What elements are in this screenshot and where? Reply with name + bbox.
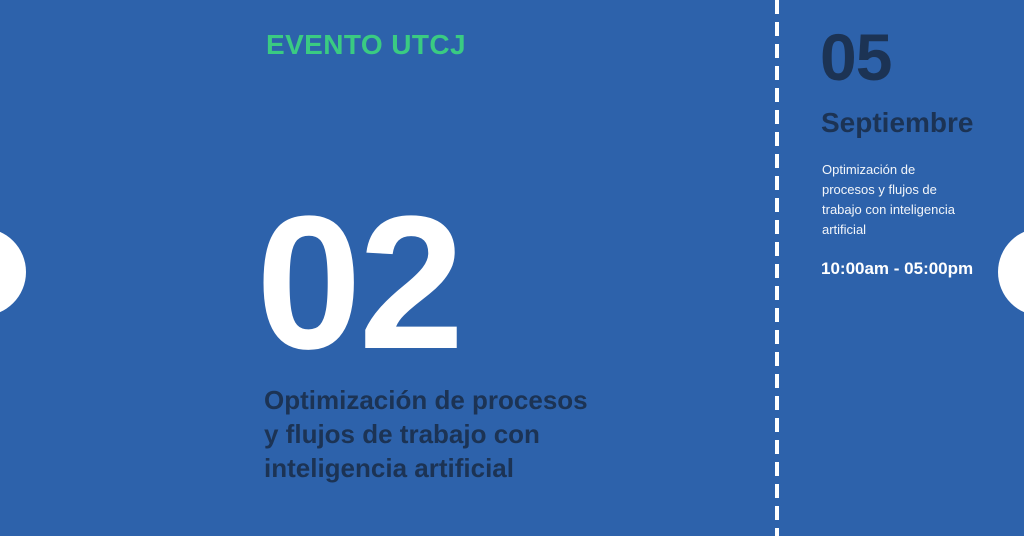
stub-description-line: procesos y flujos de — [822, 180, 974, 200]
stub-time-range: 10:00am - 05:00pm — [821, 259, 973, 279]
stub-description-line: artificial — [822, 220, 974, 240]
event-eyebrow-label: EVENTO UTCJ — [266, 29, 466, 61]
ticket-stub-panel: 05 Septiembre Optimización de procesos y… — [779, 0, 1024, 536]
stub-description-line: Optimización de — [822, 160, 974, 180]
session-title-line: Optimización de procesos — [264, 383, 694, 417]
ticket-main-panel: EVENTO UTCJ 02 Optimización de procesos … — [0, 0, 775, 536]
session-title-line: inteligencia artificial — [264, 451, 694, 485]
session-number: 02 — [256, 196, 461, 371]
stub-day-number: 05 — [820, 22, 891, 92]
session-title: Optimización de procesos y flujos de tra… — [264, 383, 694, 485]
session-title-line: y flujos de trabajo con — [264, 417, 694, 451]
stub-month-label: Septiembre — [821, 107, 974, 139]
stub-description-line: trabajo con inteligencia — [822, 200, 974, 220]
stub-description: Optimización de procesos y flujos de tra… — [822, 160, 974, 240]
event-ticket: EVENTO UTCJ 02 Optimización de procesos … — [0, 0, 1024, 536]
